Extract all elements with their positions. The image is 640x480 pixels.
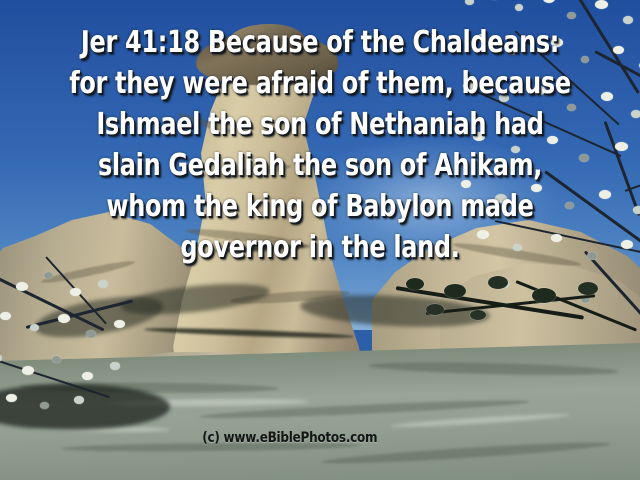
foreground-branches	[396, 276, 640, 396]
fairy-chimney-cap-top	[228, 24, 306, 52]
watermark-credit: (c) www.eBiblePhotos.com	[0, 430, 610, 446]
blossom-tree-right	[455, 0, 640, 320]
watermark-text: (c) www.eBiblePhotos.com	[202, 430, 377, 446]
blossom-tree-left	[0, 236, 176, 426]
bible-verse-photo: Jer 41:18 Because of the Chaldeans: for …	[0, 0, 640, 480]
